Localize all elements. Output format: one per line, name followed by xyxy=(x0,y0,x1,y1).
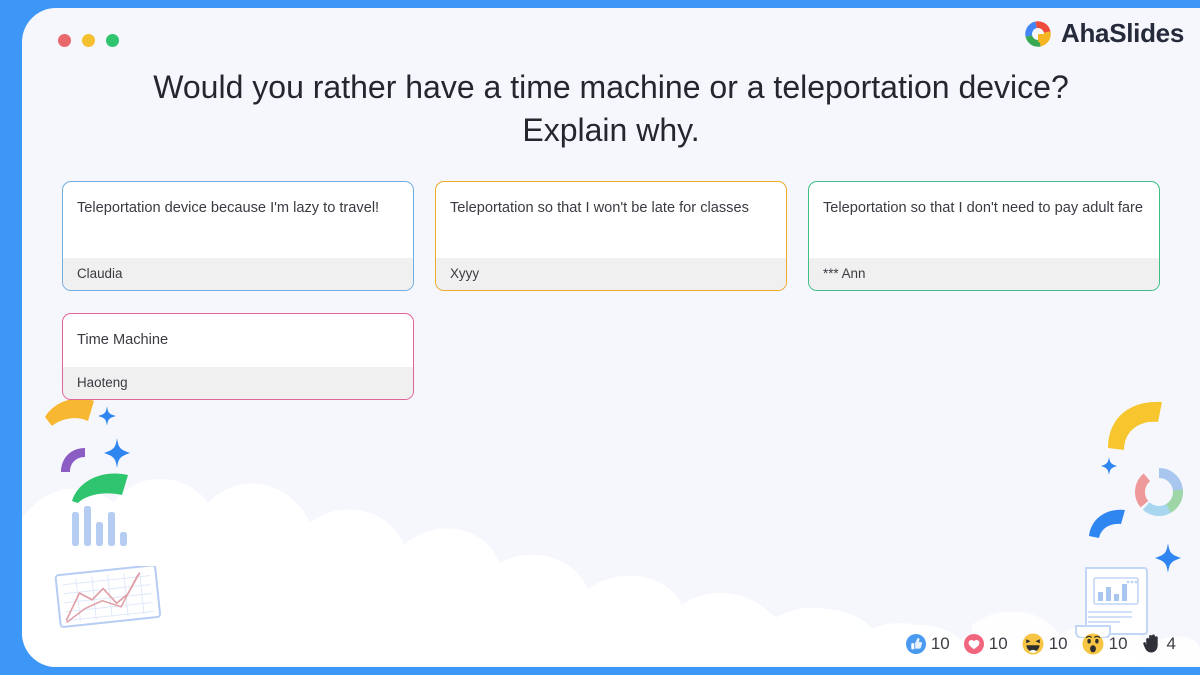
response-text: Teleportation so that I won't be late fo… xyxy=(436,182,786,258)
reactions-bar: 10 10 10 xyxy=(906,633,1176,655)
responses-grid: Teleportation device because I'm lazy to… xyxy=(62,181,1160,400)
reaction-like[interactable]: 10 xyxy=(906,634,950,654)
heart-icon xyxy=(964,634,984,654)
ahaslides-logo[interactable]: AhaSlides xyxy=(1023,18,1184,49)
response-author: Xyyy xyxy=(436,258,786,290)
reaction-haha-count: 10 xyxy=(1049,634,1068,654)
laugh-icon xyxy=(1022,633,1044,655)
thumbs-up-icon xyxy=(906,634,926,654)
response-author: Claudia xyxy=(63,258,413,290)
reaction-haha[interactable]: 10 xyxy=(1022,633,1068,655)
slide-title-line-2: Explain why. xyxy=(522,112,699,148)
window-controls xyxy=(58,34,119,47)
cloud-background xyxy=(22,367,1200,667)
reaction-love[interactable]: 10 xyxy=(964,634,1008,654)
slide-title-line-1: Would you rather have a time machine or … xyxy=(153,69,1068,105)
reaction-wow-count: 10 xyxy=(1109,634,1128,654)
response-text: Teleportation so that I don't need to pa… xyxy=(809,182,1159,258)
logo-text: AhaSlides xyxy=(1061,18,1184,49)
minimize-dot[interactable] xyxy=(82,34,95,47)
reaction-love-count: 10 xyxy=(989,634,1008,654)
maximize-dot[interactable] xyxy=(106,34,119,47)
response-card[interactable]: Teleportation device because I'm lazy to… xyxy=(62,181,414,291)
ahaslides-donut-logo-icon xyxy=(1023,19,1053,49)
response-author: *** Ann xyxy=(809,258,1159,290)
reaction-wow[interactable]: 10 xyxy=(1082,633,1128,655)
reaction-raise-hand[interactable]: 4 xyxy=(1142,633,1176,655)
response-card[interactable]: Teleportation so that I don't need to pa… xyxy=(808,181,1160,291)
close-dot[interactable] xyxy=(58,34,71,47)
response-author: Haoteng xyxy=(63,367,413,399)
wow-icon xyxy=(1082,633,1104,655)
raised-hand-icon xyxy=(1142,633,1162,655)
response-text: Time Machine xyxy=(63,314,413,367)
response-card[interactable]: Teleportation so that I won't be late fo… xyxy=(435,181,787,291)
slide-panel: AhaSlides Would you rather have a time m… xyxy=(22,8,1200,667)
reaction-raise-hand-count: 4 xyxy=(1167,634,1176,654)
response-card[interactable]: Time Machine Haoteng xyxy=(62,313,414,400)
reaction-like-count: 10 xyxy=(931,634,950,654)
slide-stage: AhaSlides Would you rather have a time m… xyxy=(0,0,1200,675)
response-text: Teleportation device because I'm lazy to… xyxy=(63,182,413,258)
slide-title: Would you rather have a time machine or … xyxy=(82,66,1140,151)
